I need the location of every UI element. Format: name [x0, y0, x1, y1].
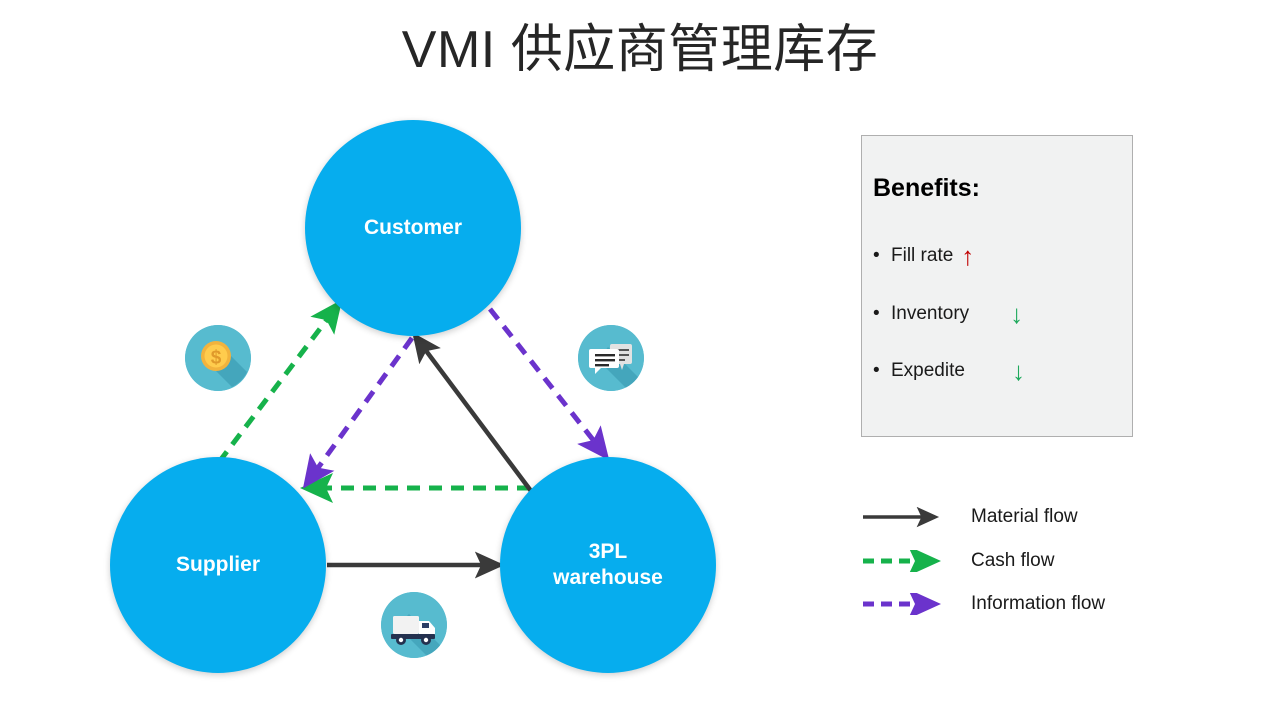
arrow-up-icon: ↑: [961, 243, 974, 269]
bullet-icon: •: [873, 303, 891, 325]
benefits-heading: Benefits:: [873, 174, 980, 203]
node-3pl-line2: warehouse: [553, 566, 663, 589]
benefits-panel: Benefits: • Fill rate ↑ • Inventory ↓ • …: [861, 135, 1133, 437]
bullet-icon: •: [873, 360, 891, 382]
benefit-label: Inventory: [891, 303, 969, 325]
svg-text:$: $: [211, 348, 222, 369]
arrow-down-icon: ↓: [1010, 301, 1023, 327]
delivery-truck-icon: [381, 592, 447, 658]
bullet-icon: •: [873, 245, 891, 267]
cash-flow-line-icon: [861, 550, 945, 572]
connector-info-customer-to-supplier: [307, 338, 412, 483]
legend-item-information-flow: Information flow: [861, 591, 1105, 617]
legend-label: Cash flow: [971, 550, 1054, 572]
chat-bubbles-icon: [578, 325, 644, 391]
slide-canvas: VMI 供应商管理库存 Customer Su: [0, 0, 1280, 720]
legend-item-cash-flow: Cash flow: [861, 548, 1054, 574]
node-3pl-warehouse-label: 3PL warehouse: [553, 539, 663, 591]
benefit-label: Fill rate: [891, 245, 953, 267]
connector-material-3pl-to-customer: [415, 336, 531, 491]
legend-label: Material flow: [971, 506, 1078, 528]
node-customer[interactable]: Customer: [305, 120, 521, 336]
arrow-down-icon: ↓: [1012, 358, 1025, 384]
node-supplier[interactable]: Supplier: [110, 457, 326, 673]
legend-label: Information flow: [971, 593, 1105, 615]
benefit-item-fill-rate: • Fill rate ↑: [873, 243, 974, 269]
node-3pl-warehouse[interactable]: 3PL warehouse: [500, 457, 716, 673]
information-flow-line-icon: [861, 593, 945, 615]
legend-item-material-flow: Material flow: [861, 504, 1078, 530]
benefit-label: Expedite: [891, 360, 965, 382]
node-customer-label: Customer: [364, 215, 462, 241]
node-3pl-line1: 3PL: [589, 540, 628, 563]
material-flow-line-icon: [861, 506, 945, 528]
node-supplier-label: Supplier: [176, 552, 260, 578]
dollar-coin-icon: $: [185, 325, 251, 391]
benefit-item-expedite: • Expedite ↓: [873, 358, 1025, 384]
benefit-item-inventory: • Inventory ↓: [873, 301, 1023, 327]
